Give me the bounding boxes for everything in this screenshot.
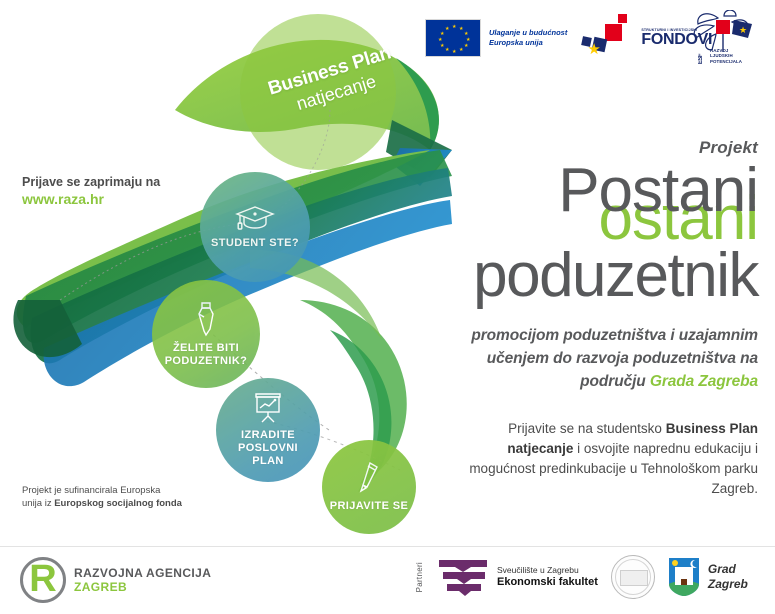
step-bubble-business-plan[interactable]: IZRADITE POSLOVNI PLAN <box>216 378 320 482</box>
footer-bar: R RAZVOJNA AGENCIJA ZAGREB Partneri <box>0 546 775 614</box>
raza-letter: R <box>29 560 56 598</box>
top-logo-strip: ★ ★ ★ ★ ★ ★ ★ ★ ★ ★ ★ ★ Ulaganje u buduć… <box>425 8 770 68</box>
zagreb-coat-of-arms-icon <box>668 557 700 597</box>
page-title-line-2: poduzetnik <box>440 244 758 308</box>
apply-note-line: Prijave se zaprimaju na <box>22 175 160 189</box>
step-bubble-student[interactable]: STUDENT STE? <box>200 172 310 282</box>
graduation-cap-icon <box>235 204 275 237</box>
funding-note-bold: Europskog socijalnog fonda <box>54 498 182 509</box>
presentation-chart-icon <box>251 392 285 429</box>
step-bubble-apply[interactable]: PRIJAVITE SE <box>322 440 416 534</box>
blurb-part-1: Prijavite se na studentsko <box>508 421 666 436</box>
pen-icon <box>356 461 382 500</box>
tagline: promocijom poduzetništva i uzajamnim uče… <box>440 324 758 393</box>
tagline-line-2: učenjem do razvoja poduzetništva na <box>440 347 758 370</box>
efzg-line-1: Sveučilište u Zagrebu <box>497 565 598 576</box>
funding-note-line-1: Projekt je sufinancirala Europska <box>22 484 182 497</box>
page-title: Postani <box>558 160 758 222</box>
eu-flag-logo: ★ ★ ★ ★ ★ ★ ★ ★ ★ ★ ★ ★ Ulaganje u buduć… <box>425 19 567 57</box>
tagline-line-3: području Grada Zagreba <box>440 370 758 393</box>
step-bubble-entrepreneur[interactable]: ŽELITE BITI PODUZETNIK? <box>152 280 260 388</box>
raza-circle-icon: R <box>20 557 66 603</box>
funding-note-line-2: unija iz Europskog socijalnog fonda <box>22 497 182 510</box>
step-label: IZRADITE POSLOVNI PLAN <box>238 429 298 468</box>
raza-line-1: RAZVOJNA AGENCIJA <box>74 566 211 580</box>
grad-zagreb-text: Grad Zagreb <box>708 562 748 592</box>
apply-note: Prijave se zaprimaju na www.raza.hr <box>22 174 160 208</box>
efzg-chevron-icon <box>437 557 489 597</box>
svg-text:★: ★ <box>739 26 747 36</box>
partner-logo-efzg: Sveučilište u Zagrebu Ekonomski fakultet <box>437 557 598 597</box>
efzg-text: Sveučilište u Zagrebu Ekonomski fakultet <box>497 565 598 589</box>
step-label: PRIJAVITE SE <box>330 500 409 513</box>
fondovi-square-red-small <box>618 14 627 23</box>
step-label: ŽELITE BITI PODUZETNIK? <box>165 342 248 368</box>
necktie-icon <box>192 301 220 342</box>
raza-logo: R RAZVOJNA AGENCIJA ZAGREB <box>20 557 211 603</box>
eu-text-line-1: Ulaganje u budućnost <box>489 28 567 38</box>
title-overlap-wrap: ostani Postani <box>440 160 758 238</box>
efzg-line-2: Ekonomski fakultet <box>497 576 598 589</box>
step-label: STUDENT STE? <box>211 237 299 250</box>
esf-logo: ★ ESF RAZVOJ LJUDSKIH POTENCIJALA <box>684 10 770 66</box>
grad-zagreb-line-2: Zagreb <box>708 577 748 592</box>
esf-line-3: POTENCIJALA <box>710 59 742 64</box>
tagline-prefix: području <box>580 373 650 390</box>
partners-row: Partneri Sveučilište u Zagrebu Ekonomski… <box>415 555 748 599</box>
esf-text: RAZVOJ LJUDSKIH POTENCIJALA <box>710 48 742 64</box>
seal-building-icon <box>620 570 648 586</box>
poster-root: Business Plan natjecanje STUDENT STE? ŽE… <box>0 0 775 614</box>
eu-flag-icon: ★ ★ ★ ★ ★ ★ ★ ★ ★ ★ ★ ★ <box>425 19 481 57</box>
grad-zagreb-line-1: Grad <box>708 562 748 577</box>
funding-note: Projekt je sufinancirala Europska unija … <box>22 484 182 510</box>
esf-vertical-text: ESF <box>698 54 704 64</box>
tagline-highlight: Grada Zagreba <box>650 373 758 390</box>
raza-line-2: ZAGREB <box>74 580 211 594</box>
raza-wordmark: RAZVOJNA AGENCIJA ZAGREB <box>74 566 211 594</box>
partner-logo-grad-zagreb: Grad Zagreb <box>668 557 748 597</box>
projekt-label: Projekt <box>440 138 758 158</box>
partner-logo-university-seal <box>611 555 655 599</box>
raza-website-link[interactable]: www.raza.hr <box>22 191 160 208</box>
funding-note-prefix: unija iz <box>22 498 54 509</box>
headline-column: Projekt ostani Postani poduzetnik promoc… <box>440 138 758 499</box>
fondovi-square-red-large <box>605 24 622 41</box>
eu-text-line-2: Europska unija <box>489 38 567 48</box>
partners-label: Partneri <box>415 562 424 592</box>
eu-logo-text: Ulaganje u budućnost Europska unija <box>489 28 567 48</box>
tagline-line-1: promocijom poduzetništva i uzajamnim <box>440 324 758 347</box>
blurb: Prijavite se na studentsko Business Plan… <box>440 419 758 499</box>
esi-fondovi-logo: ★ STRUKTURNI I INVESTICIJSKI FONDOVI <box>581 12 670 64</box>
fondovi-star-icon: ★ <box>587 42 600 57</box>
